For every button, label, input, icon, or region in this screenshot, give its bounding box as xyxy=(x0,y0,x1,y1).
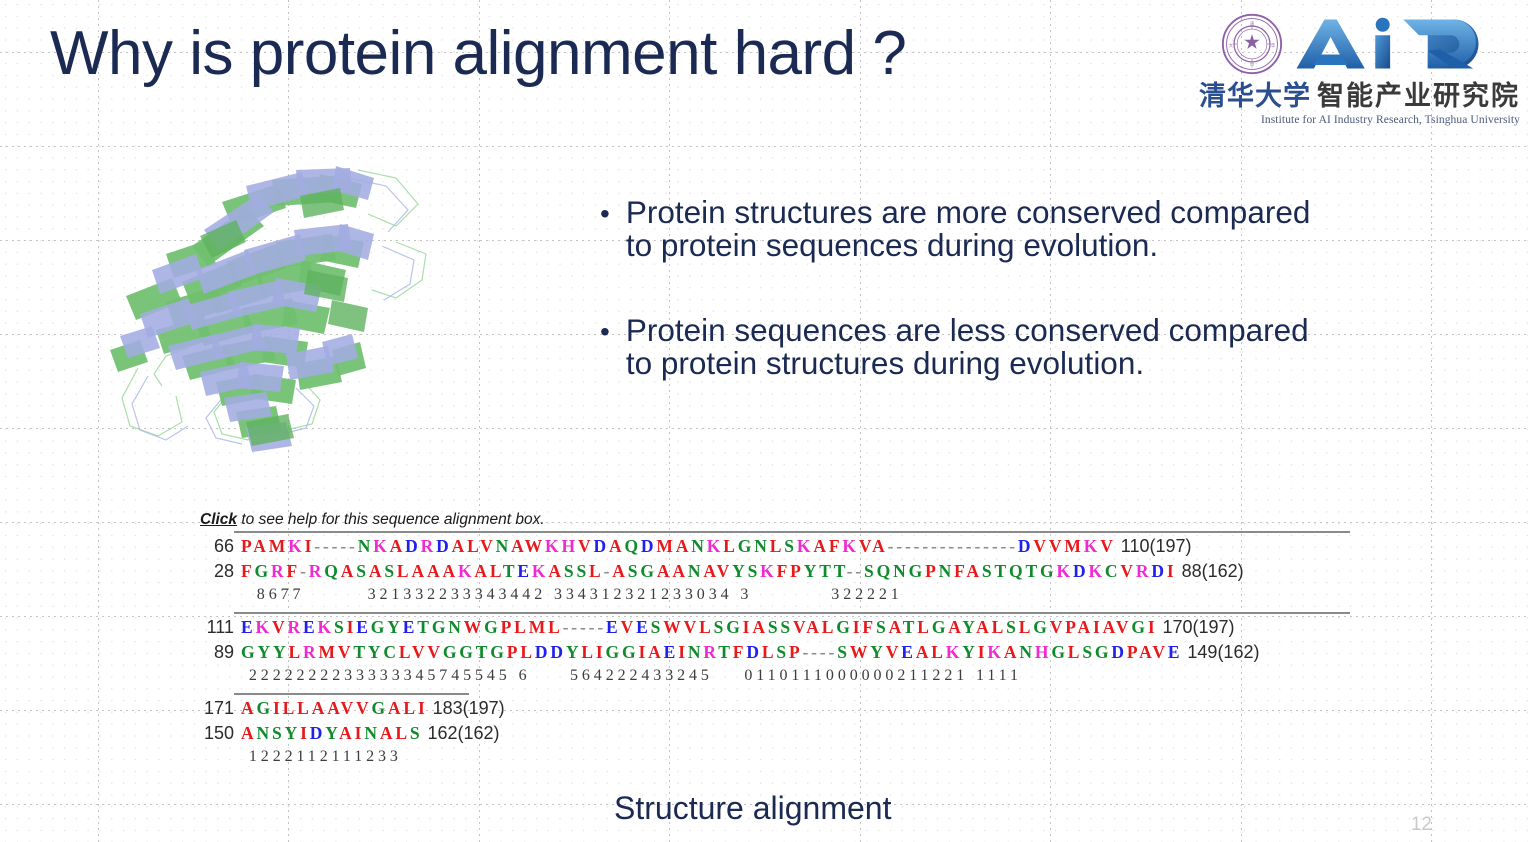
svg-text:华: 华 xyxy=(1270,42,1275,49)
row-start-index: 111 xyxy=(200,617,241,638)
row-sequence: ANSYIDYAINALS xyxy=(241,723,422,744)
alignment-row: 89 GYYLRMVTYCLVVGGTGPLDDYLIGGIAEINRTFDLS… xyxy=(200,642,1350,667)
bullet-text: Protein structures are more conserved co… xyxy=(626,196,1311,262)
page-number: 12 xyxy=(1411,814,1432,836)
page-title: Why is protein alignment hard ? xyxy=(50,18,906,89)
air-tsinghua-logo: 清 学 大 华 xyxy=(1190,12,1520,134)
bullet-line: to protein structures during evolution. xyxy=(626,345,1144,381)
bullet-list: • Protein structures are more conserved … xyxy=(600,196,1480,432)
row-sequence: GYYLRMVTYCLVVGGTGPLDDYLIGGIAEINRTFDLSP--… xyxy=(241,642,1182,663)
row-end-index: 110(197) xyxy=(1116,536,1192,557)
slide-canvas: Why is protein alignment hard ? 清 学 大 华 xyxy=(0,0,1528,842)
svg-text:学: 学 xyxy=(1249,62,1254,69)
row-sequence: AGILLAAVVGALI xyxy=(241,698,428,719)
bullet-text: Protein sequences are less conserved com… xyxy=(626,314,1309,380)
row-end-index: 162(162) xyxy=(422,723,499,744)
row-start-index: 28 xyxy=(200,561,241,582)
row-start-index: 150 xyxy=(200,723,241,744)
list-item: • Protein structures are more conserved … xyxy=(600,196,1480,262)
svg-text:清: 清 xyxy=(1249,20,1254,27)
row-sequence: FGRF-RQASASLAAAKALTEKASSL-ASGAANAVYSKFPY… xyxy=(241,561,1177,582)
row-end-index: 170(197) xyxy=(1158,617,1235,638)
row-start-index: 66 xyxy=(200,536,241,557)
bullet-marker-icon: • xyxy=(600,196,610,262)
bullet-line: to protein sequences during evolution. xyxy=(626,227,1158,263)
bullet-line: Protein sequences are less conserved com… xyxy=(626,312,1309,348)
alignment-row: 28 FGRF-RQASASLAAAKALTEKASSL-ASGAANAVYSK… xyxy=(200,561,1350,586)
university-name-cn: 清华大学 xyxy=(1199,83,1311,110)
click-help-link[interactable]: Click xyxy=(200,511,237,528)
institute-name-cn: 智能产业研究院 xyxy=(1317,83,1520,110)
bullet-marker-icon: • xyxy=(600,314,610,380)
row-end-index: 149(162) xyxy=(1182,642,1259,663)
row-start-index: 171 xyxy=(200,698,241,719)
alignment-row: 66 PAMKI-----NKADRDALVNAWKHVDAQDMANKLGNL… xyxy=(200,536,1350,561)
air-wordmark-icon xyxy=(1293,16,1521,72)
alignment-block: 171 AGILLAAVVGALI 183(197) 150 ANSYIDYAI… xyxy=(200,693,1350,770)
figure-caption: Structure alignment xyxy=(614,790,891,827)
conservation-score-row: 8677 321332233343442 334312321233034 3 3… xyxy=(241,586,1350,608)
conservation-score-row: 2222222233333345745545 6 564222433245 01… xyxy=(241,667,1350,689)
alignment-row: 171 AGILLAAVVGALI 183(197) xyxy=(200,698,1350,723)
row-end-index: 88(162) xyxy=(1177,561,1244,582)
list-item: • Protein sequences are less conserved c… xyxy=(600,314,1480,380)
row-start-index: 89 xyxy=(200,642,241,663)
protein-structure-image xyxy=(96,150,432,470)
alignment-help-text: to see help for this sequence alignment … xyxy=(237,511,545,528)
grid-hline xyxy=(0,146,1528,147)
alignment-block: 66 PAMKI-----NKADRDALVNAWKHVDAQDMANKLGNL… xyxy=(200,531,1350,608)
institute-name-en: Institute for AI Industry Research, Tsin… xyxy=(1190,114,1520,126)
conservation-score-row: 1222112111233 xyxy=(241,748,1350,770)
alignment-row: 150 ANSYIDYAINALS 162(162) xyxy=(200,723,1350,748)
tsinghua-seal-icon: 清 学 大 华 xyxy=(1221,13,1283,75)
row-sequence: EKVREKSIEGYETGNWGPLML-----EVESWVLSGIASSV… xyxy=(241,617,1158,638)
sequence-alignment-box: Click to see help for this sequence alig… xyxy=(200,511,1350,774)
alignment-help-line[interactable]: Click to see help for this sequence alig… xyxy=(200,511,1350,529)
svg-text:大: 大 xyxy=(1228,42,1233,49)
block-separator-rule xyxy=(234,693,469,695)
block-separator-rule xyxy=(234,531,1350,533)
alignment-block: 111 EKVREKSIEGYETGNWGPLML-----EVESWVLSGI… xyxy=(200,612,1350,689)
block-separator-rule xyxy=(234,612,1350,614)
bullet-line: Protein structures are more conserved co… xyxy=(626,194,1311,230)
alignment-row: 111 EKVREKSIEGYETGNWGPLML-----EVESWVLSGI… xyxy=(200,617,1350,642)
row-end-index: 183(197) xyxy=(428,698,505,719)
row-sequence: PAMKI-----NKADRDALVNAWKHVDAQDMANKLGNLSKA… xyxy=(241,536,1116,557)
